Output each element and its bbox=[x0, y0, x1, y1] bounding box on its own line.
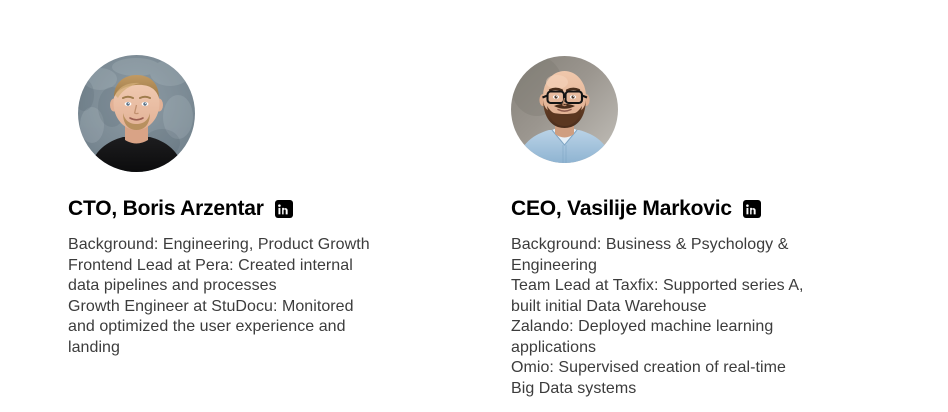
bio-line: Engineering bbox=[511, 256, 863, 277]
bio-line: Team Lead at Taxfix: Supported series A, bbox=[511, 276, 863, 297]
bio-line: Growth Engineer at StuDocu: Monitored bbox=[68, 297, 413, 318]
profile-name-row-cto: CTO, Boris Arzentar bbox=[68, 196, 293, 222]
profile-bio-cto: Background: Engineering, Product Growth … bbox=[68, 235, 413, 358]
bio-line: Zalando: Deployed machine learning bbox=[511, 317, 863, 338]
bio-line: Omio: Supervised creation of real-time bbox=[511, 358, 863, 379]
linkedin-icon[interactable] bbox=[743, 200, 761, 218]
profile-bio-ceo: Background: Business & Psychology & Engi… bbox=[511, 235, 863, 399]
avatar-vasilije-markovic bbox=[511, 56, 618, 163]
team-profiles-slide: CTO, Boris Arzentar Background: Engineer… bbox=[0, 0, 948, 412]
bio-line: landing bbox=[68, 338, 413, 359]
bio-line: Background: Engineering, Product Growth bbox=[68, 235, 413, 256]
profile-name-cto: CTO, Boris Arzentar bbox=[68, 196, 264, 222]
bio-line: data pipelines and processes bbox=[68, 276, 413, 297]
bio-line: Frontend Lead at Pera: Created internal bbox=[68, 256, 413, 277]
bio-line: and optimized the user experience and bbox=[68, 317, 413, 338]
bio-line: Background: Business & Psychology & bbox=[511, 235, 863, 256]
bio-line: built initial Data Warehouse bbox=[511, 297, 863, 318]
profile-name-ceo: CEO, Vasilije Markovic bbox=[511, 196, 732, 222]
bio-line: Big Data systems bbox=[511, 379, 863, 400]
profile-card-ceo: CEO, Vasilije Markovic Background: Busin… bbox=[511, 0, 911, 163]
bio-line: applications bbox=[511, 338, 863, 359]
profile-card-cto: CTO, Boris Arzentar Background: Engineer… bbox=[68, 0, 468, 172]
profile-name-row-ceo: CEO, Vasilije Markovic bbox=[511, 196, 761, 222]
avatar-boris-arzentar bbox=[78, 55, 195, 172]
linkedin-icon[interactable] bbox=[275, 200, 293, 218]
